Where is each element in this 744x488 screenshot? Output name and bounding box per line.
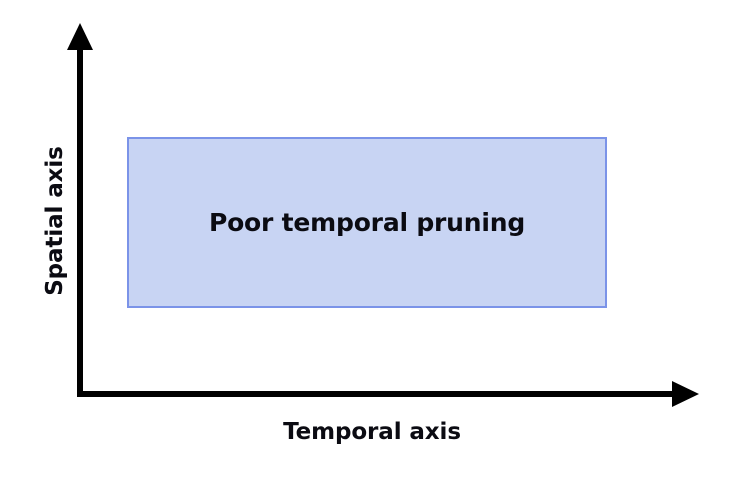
arrow-right-icon [672,381,699,407]
diagram-canvas: Poor temporal pruning Temporal axis Spat… [0,0,744,488]
region-label: Poor temporal pruning [209,208,525,237]
x-axis-label: Temporal axis [0,419,744,445]
y-axis-label: Spatial axis [42,131,68,311]
region-poor-temporal-pruning: Poor temporal pruning [127,137,607,308]
arrow-up-icon [67,23,93,50]
